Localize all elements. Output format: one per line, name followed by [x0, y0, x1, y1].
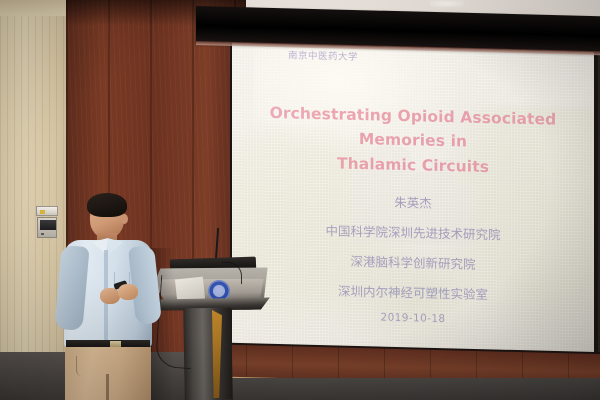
- projection-screen: 南京中医药大学 Orchestrating Opioid Associated …: [232, 38, 594, 353]
- slide-body: 朱英杰 中国科学院深圳先进技术研究院 深港脑科学创新研究院 深圳内尔神经可塑性实…: [232, 188, 594, 329]
- presenter-leg-seam: [106, 374, 109, 400]
- slide-affiliation-1: 中国科学院深圳先进技术研究院: [232, 218, 594, 246]
- presentation-photo-scene: 南京中医药大学 Orchestrating Opioid Associated …: [0, 0, 600, 400]
- presenter-hair: [87, 193, 127, 217]
- light-wood-pillar-cap: [0, 0, 72, 16]
- presenter-pants-pocket: [76, 356, 90, 376]
- slide-university-header: 南京中医药大学: [288, 47, 358, 63]
- wall-panel-indicator-icon: [40, 210, 45, 214]
- presenter-hand-right: [118, 284, 138, 300]
- ceiling-light: [430, 0, 464, 7]
- presenter-ear: [121, 214, 128, 224]
- slide-date: 2019-10-18: [232, 308, 594, 329]
- slide-presenter-name: 朱英杰: [232, 188, 594, 216]
- slide-title-line-1: Orchestrating Opioid Associated Memories…: [270, 104, 557, 151]
- slide-title-line-2: Thalamic Circuits: [232, 149, 594, 182]
- presenter-hand-left: [100, 288, 120, 304]
- slide-content: 南京中医药大学 Orchestrating Opioid Associated …: [232, 38, 594, 353]
- slide-affiliation-3: 深圳内尔神经可塑性实验室: [232, 278, 594, 306]
- slide-title: Orchestrating Opioid Associated Memories…: [232, 100, 594, 182]
- slide-affiliation-2: 深港脑科学创新研究院: [232, 248, 594, 276]
- presenter: [52, 188, 174, 400]
- wall-panel-led-icon: [41, 233, 44, 235]
